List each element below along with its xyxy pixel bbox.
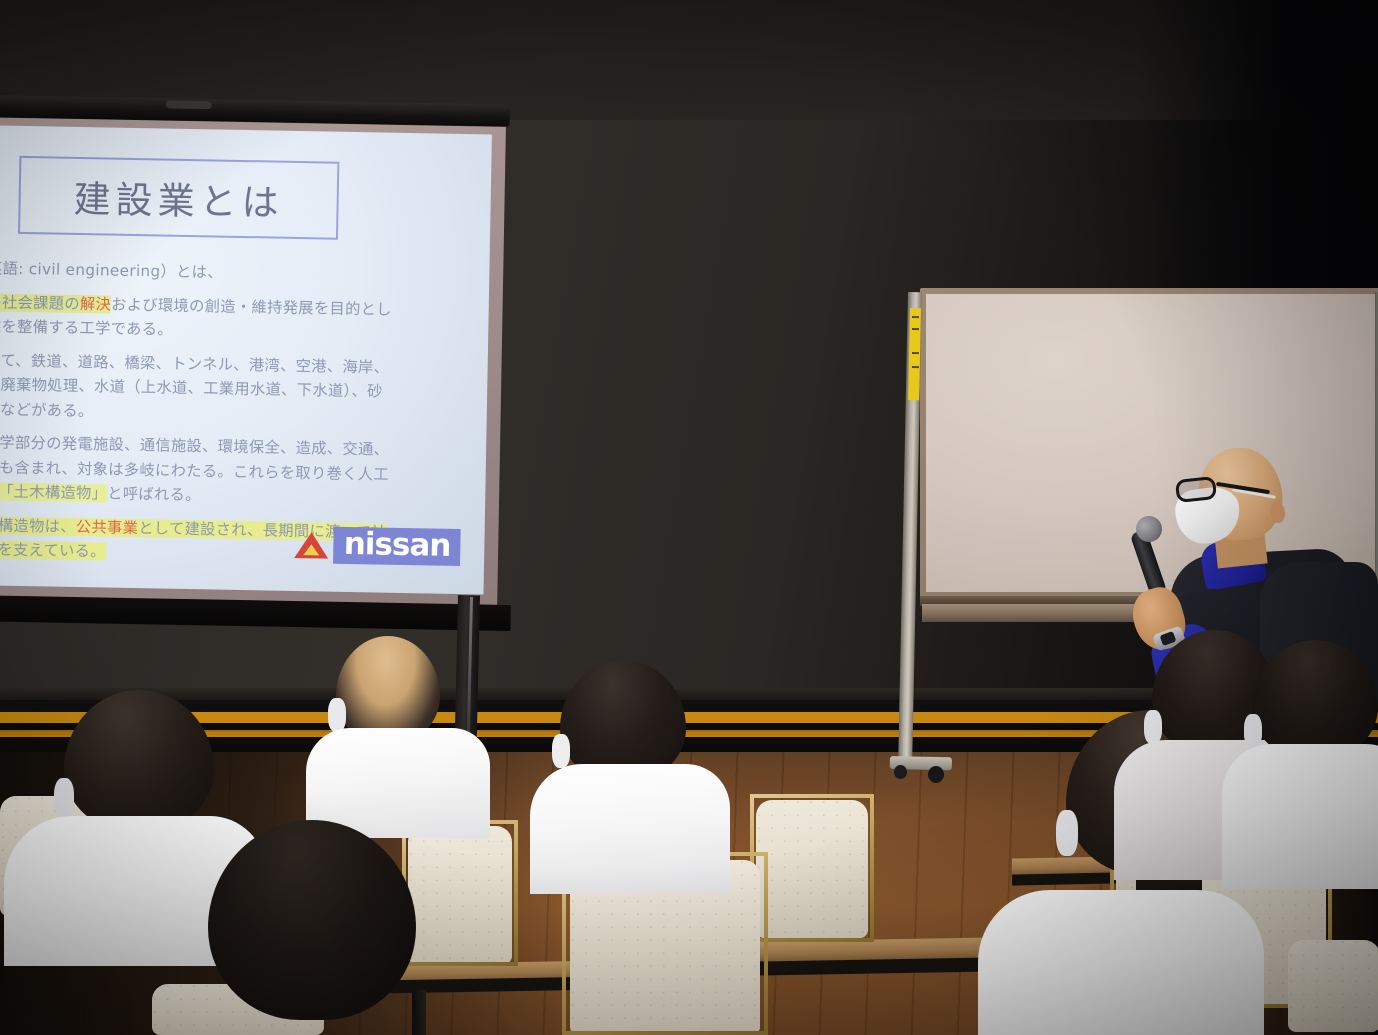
slide-red-text-b: 公共事業 (76, 517, 139, 536)
attendee-shirt (1222, 744, 1378, 889)
attendee-shirt (530, 764, 730, 894)
attendee-mask (1056, 810, 1078, 856)
whiteboard-caster-left (894, 765, 907, 779)
attendee-mask (1244, 714, 1262, 748)
attendee-bottom-left (190, 820, 450, 1035)
attendee-head (1252, 640, 1378, 760)
screen-surface: 建設業とは （英語: civil engineering）とは、 等の社会課題の… (0, 125, 492, 594)
slide-highlight-e: 活動を支えている。 (0, 540, 106, 561)
slide-highlight-c: 土木構造物は、 (0, 515, 76, 535)
attendee-head (64, 690, 214, 832)
attendee-right-b (1238, 640, 1378, 880)
slide-text-c: と呼ばれる。 (107, 485, 201, 505)
slide-title: 建設業とは (73, 169, 284, 227)
slide-title-box: 建設業とは (18, 156, 339, 240)
presentation-slide: 建設業とは （英語: civil engineering）とは、 等の社会課題の… (0, 125, 492, 594)
attendee-mask (1144, 710, 1162, 744)
nissan-triangle-icon (294, 530, 329, 561)
sticker-text-line-1 (911, 316, 918, 318)
slide-red-text-a: 解決 (80, 295, 112, 314)
nissan-wordmark: nissan (333, 527, 460, 566)
screen-roller-knob (166, 100, 212, 109)
lecture-hall-photo: 建設業とは （英語: civil engineering）とは、 等の社会課題の… (0, 0, 1378, 1035)
slide-body: （英語: civil engineering）とは、 等の社会課題の解決および環… (0, 257, 475, 570)
sticker-text-line-3 (911, 352, 918, 354)
attendee-mask (54, 778, 74, 818)
attendee-balding-left (300, 632, 490, 832)
sticker-text-line-4 (911, 366, 918, 368)
whiteboard-caster-right (928, 766, 944, 783)
slide-highlight-b: 「土木構造物」 (0, 483, 107, 503)
attendee-mask (552, 734, 570, 768)
attendee-center (530, 660, 740, 890)
sticker-text-line-2 (911, 328, 918, 330)
slide-highlight-a: 等の社会課題の (0, 293, 80, 313)
slide-paragraph-1: （英語: civil engineering）とは、 (0, 257, 475, 289)
whiteboard-warning-sticker (908, 308, 921, 400)
slide-text-a: および環境の創造・維持発展を目的とし (111, 295, 392, 318)
nissan-logo: nissan (294, 526, 460, 566)
attendee-shirt (978, 890, 1264, 1035)
attendee-head (208, 820, 416, 1020)
projection-screen: 建設業とは （英語: civil engineering）とは、 等の社会課題の… (0, 95, 526, 615)
chair-backrest (1288, 940, 1378, 1032)
attendee-mask (328, 698, 346, 732)
chair-bottom-right (1288, 940, 1378, 1035)
